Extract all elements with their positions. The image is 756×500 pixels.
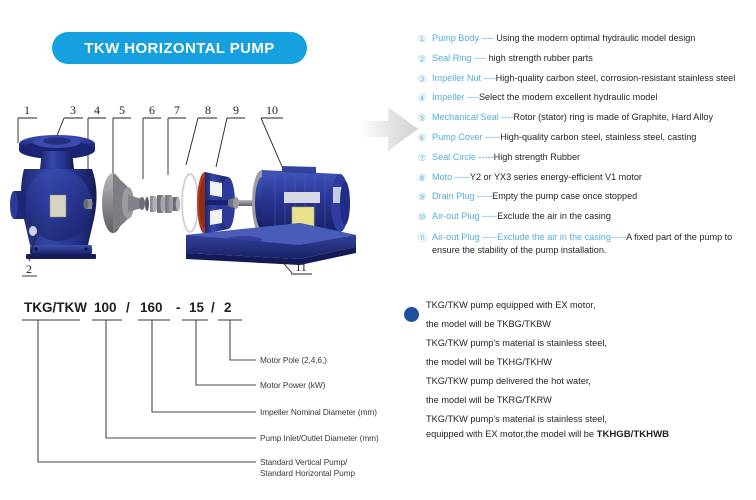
- spec-text: Air-out Plug -----Exclude the air in the…: [432, 231, 756, 257]
- spec-text: Mechanical Seal ----Rotor (stator) ring …: [432, 112, 756, 123]
- note-line: the model will be TKRG/TKRW: [426, 395, 756, 407]
- model-label-pump-type-1: Standard Vertical Pump/: [260, 457, 348, 467]
- list-item: ⑤ Mechanical Seal ----Rotor (stator) rin…: [418, 112, 756, 124]
- spec-index: ④: [418, 92, 432, 104]
- spec-index: ⑦: [418, 152, 432, 164]
- spec-description: high strength rubber parts: [489, 53, 593, 63]
- list-item: ① Pump Body ---- Using the modern optima…: [418, 33, 756, 45]
- model-label-motor-pole: Motor Pole (2,4,6,): [260, 355, 327, 365]
- spec-part-name: Seal Ring: [432, 53, 471, 63]
- spec-part-name: Air-out Plug -----Exclude the air in the…: [432, 232, 611, 242]
- spec-separator: -----: [476, 152, 494, 162]
- spec-separator: -----: [474, 191, 492, 201]
- model-code-breakdown: TKG/TKW 100 / 160 - 15 / 2: [0, 295, 400, 495]
- page-title: TKW HORIZONTAL PUMP: [84, 40, 274, 57]
- spec-text: Drain Plug -----Empty the pump case once…: [432, 191, 756, 202]
- svg-text:6: 6: [149, 103, 155, 117]
- svg-text:3: 3: [70, 103, 76, 117]
- model-token-impeller: 160: [140, 300, 163, 315]
- model-variant-notes: TKG/TKW pump equipped with EX motor, the…: [400, 300, 756, 500]
- model-label-pump-type-2: Standard Horizontal Pump: [260, 468, 355, 478]
- svg-text:9: 9: [233, 103, 239, 117]
- spec-description: Using the modern optimal hydraulic model…: [496, 33, 695, 43]
- callout-5: 5: [113, 103, 131, 173]
- mechanical-seal-part: [145, 195, 180, 213]
- note-line: the model will be TKHG/TKHW: [426, 357, 756, 369]
- spec-text: Pump Cover -----High-quality carbon stee…: [432, 132, 756, 143]
- spec-separator: ----: [481, 73, 496, 83]
- spec-part-name: Mechanical Seal: [432, 112, 499, 122]
- note-line-model-bold: TKHGB/TKHWB: [597, 429, 669, 440]
- list-item: ⑥ Pump Cover -----High-quality carbon st…: [418, 132, 756, 144]
- impeller-nut-part: [84, 199, 93, 209]
- callout-9: 9: [216, 103, 245, 167]
- spec-index: ②: [418, 53, 432, 65]
- note-line: TKG/TKW pump's material is stainless ste…: [426, 414, 756, 426]
- spec-text: Seal Circle -----High strength Rubber: [432, 152, 756, 163]
- spec-description: High-quality carbon steel, corrosion-res…: [496, 73, 736, 83]
- list-item: ③ Impeller Nut ----High-quality carbon s…: [418, 73, 756, 85]
- spec-part-name: Air-out Plug: [432, 211, 480, 221]
- callout-6: 6: [143, 103, 161, 179]
- model-token-slash1: /: [126, 300, 130, 315]
- list-item: ⑧ Moto -----Y2 or YX3 series energy-effi…: [418, 172, 756, 184]
- spec-part-name: Moto: [432, 172, 452, 182]
- spec-separator: ----: [499, 112, 514, 122]
- spec-index: ⑥: [418, 132, 432, 144]
- list-item: ② Seal Ring ---- high strength rubber pa…: [418, 53, 756, 65]
- spec-description: Select the modern excellent hydraulic mo…: [479, 92, 657, 102]
- svg-text:5: 5: [119, 103, 125, 117]
- spec-index: ⑪: [418, 231, 432, 245]
- callout-7: 7: [168, 103, 186, 175]
- svg-text:8: 8: [205, 103, 211, 117]
- list-item: ⑩ Air-out Plug -----Exclude the air in t…: [418, 211, 756, 223]
- list-item: ④ Impeller ----Select the modern excelle…: [418, 92, 756, 104]
- svg-text:1: 1: [24, 103, 30, 117]
- model-label-motor-power: Motor Power (kW): [260, 380, 326, 390]
- note-line: TKG/TKW pump equipped with EX motor,: [426, 300, 756, 312]
- svg-text:4: 4: [94, 103, 100, 117]
- list-item: ⑨ Drain Plug -----Empty the pump case on…: [418, 191, 756, 203]
- impeller-part: [102, 173, 145, 233]
- spec-description: Y2 or YX3 series energy-efficient V1 mot…: [470, 172, 642, 182]
- spec-separator: ----: [464, 92, 479, 102]
- note-line: TKG/TKW pump delivered the hot water,: [426, 376, 756, 388]
- spec-description: Rotor (stator) ring is made of Graphite,…: [513, 112, 713, 122]
- list-item: ⑦ Seal Circle -----High strength Rubber: [418, 152, 756, 164]
- svg-text:11: 11: [295, 260, 307, 274]
- bullet-dot-icon: [404, 307, 419, 322]
- spec-index: ⑩: [418, 211, 432, 223]
- spec-description: Empty the pump case once stopped: [492, 191, 637, 201]
- model-token-pole: 2: [224, 300, 232, 315]
- spec-part-name: Seal Circle: [432, 152, 476, 162]
- page-title-banner: TKW HORIZONTAL PUMP: [52, 32, 307, 64]
- spec-part-name: Pump Body: [432, 33, 479, 43]
- note-lines-group: TKG/TKW pump equipped with EX motor, the…: [426, 300, 756, 448]
- note-line-final: equipped with EX motor,the model will be…: [426, 429, 756, 441]
- pump-body-part: [10, 135, 97, 259]
- callout-8: 8: [186, 103, 217, 165]
- spec-separator: -----: [480, 211, 498, 221]
- spec-description: High strength Rubber: [494, 152, 580, 162]
- note-line-text: equipped with EX motor,the model will be: [426, 429, 597, 439]
- spec-description: Exclude the air in the casing: [497, 211, 611, 221]
- spec-text: Moto -----Y2 or YX3 series energy-effici…: [432, 172, 756, 183]
- spec-index: ⑨: [418, 191, 432, 203]
- right-arrow-icon: [358, 103, 420, 155]
- seal-circle-part: [182, 174, 198, 232]
- spec-index: ⑧: [418, 172, 432, 184]
- spec-text: Impeller Nut ----High-quality carbon ste…: [432, 73, 756, 84]
- spec-separator: ----: [471, 53, 488, 63]
- list-item: ⑪ Air-out Plug -----Exclude the air in t…: [418, 231, 756, 257]
- model-token-slash2: /: [211, 300, 215, 315]
- exploded-pump-diagram: 1 3 4 5 6 7 8: [0, 95, 400, 290]
- spec-part-name: Impeller Nut: [432, 73, 481, 83]
- spec-separator: ----: [479, 33, 496, 43]
- model-token-power: 15: [189, 300, 205, 315]
- note-line: TKG/TKW pump's material is stainless ste…: [426, 338, 756, 350]
- spec-index: ③: [418, 73, 432, 85]
- spec-text: Impeller ----Select the modern excellent…: [432, 92, 756, 103]
- spec-separator: -----: [611, 232, 626, 242]
- note-line: the model will be TKBG/TKBW: [426, 319, 756, 331]
- spec-text: Seal Ring ---- high strength rubber part…: [432, 53, 756, 64]
- spec-part-name: Pump Cover: [432, 132, 483, 142]
- spec-text: Pump Body ---- Using the modern optimal …: [432, 33, 756, 44]
- spec-text: Air-out Plug -----Exclude the air in the…: [432, 211, 756, 222]
- svg-text:2: 2: [26, 262, 32, 276]
- component-spec-list: ① Pump Body ---- Using the modern optima…: [418, 33, 756, 266]
- model-token-prefix: TKG/TKW: [24, 300, 87, 315]
- model-label-inlet-dia: Pump Inlet/Outlet Diameter (mm): [260, 433, 379, 443]
- model-token-inlet: 100: [94, 300, 117, 315]
- spec-index: ①: [418, 33, 432, 45]
- model-label-impeller-dia: Impeller Nominal Diameter (mm): [260, 407, 377, 417]
- spec-index: ⑤: [418, 112, 432, 124]
- svg-text:7: 7: [174, 103, 180, 117]
- spec-separator: -----: [452, 172, 470, 182]
- model-token-dash: -: [176, 300, 181, 315]
- spec-description: High-quality carbon steel, stainless ste…: [500, 132, 696, 142]
- spec-separator: -----: [483, 132, 501, 142]
- spec-part-name: Impeller: [432, 92, 464, 102]
- svg-text:10: 10: [266, 103, 278, 117]
- spec-part-name: Drain Plug: [432, 191, 474, 201]
